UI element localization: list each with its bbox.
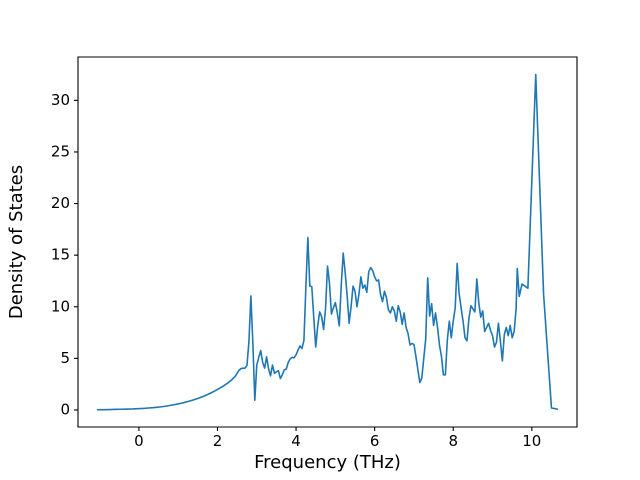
y-axis-label: Density of States bbox=[6, 165, 27, 319]
matplotlib-figure: 0246810 051015202530 Frequency (THz) Den… bbox=[0, 0, 640, 480]
x-tick-label: 10 bbox=[522, 432, 541, 450]
x-tick-label: 0 bbox=[134, 432, 144, 450]
y-tick-label: 25 bbox=[51, 142, 70, 160]
y-tick-label: 15 bbox=[51, 246, 70, 264]
x-tick-label: 4 bbox=[291, 432, 301, 450]
y-tick-label: 5 bbox=[60, 349, 70, 367]
x-tick-label: 2 bbox=[213, 432, 223, 450]
figure-background bbox=[0, 0, 640, 480]
y-tick-label: 10 bbox=[51, 297, 70, 315]
x-tick-label: 6 bbox=[370, 432, 380, 450]
x-axis-label: Frequency (THz) bbox=[254, 452, 401, 473]
y-tick-label: 20 bbox=[51, 194, 70, 212]
dos-plot: 0246810 051015202530 Frequency (THz) Den… bbox=[0, 0, 640, 480]
y-tick-label: 30 bbox=[51, 91, 70, 109]
y-tick-label: 0 bbox=[60, 400, 70, 418]
x-tick-label: 8 bbox=[448, 432, 458, 450]
